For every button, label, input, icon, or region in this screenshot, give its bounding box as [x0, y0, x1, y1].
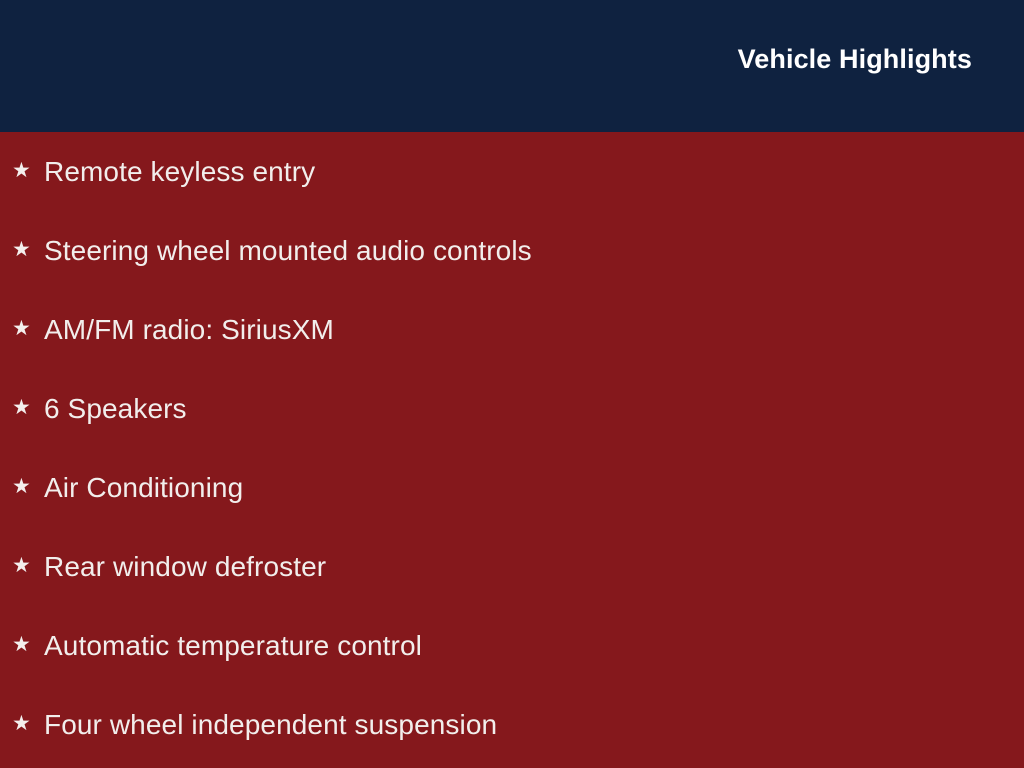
star-icon: ★ [12, 476, 44, 497]
star-icon: ★ [12, 634, 44, 655]
star-icon: ★ [12, 318, 44, 339]
list-item: ★ Remote keyless entry [0, 132, 1024, 211]
list-item-label: Automatic temperature control [44, 629, 422, 663]
vehicle-highlights-slide: Vehicle Highlights ★ Remote keyless entr… [0, 0, 1024, 768]
list-item-label: Rear window defroster [44, 550, 326, 584]
star-icon: ★ [12, 713, 44, 734]
page-title: Vehicle Highlights [738, 45, 972, 75]
list-item-label: Four wheel independent suspension [44, 708, 497, 742]
star-icon: ★ [12, 239, 44, 260]
list-item: ★ Air Conditioning [0, 448, 1024, 527]
star-icon: ★ [12, 555, 44, 576]
slide-body: ★ Remote keyless entry ★ Steering wheel … [0, 132, 1024, 768]
slide-header-band: Vehicle Highlights [0, 0, 1024, 132]
list-item: ★ Four wheel independent suspension [0, 685, 1024, 764]
list-item: ★ Automatic temperature control [0, 606, 1024, 685]
star-icon: ★ [12, 160, 44, 181]
list-item-label: AM/FM radio: SiriusXM [44, 313, 334, 347]
list-item: ★ Rear window defroster [0, 527, 1024, 606]
star-icon: ★ [12, 397, 44, 418]
list-item: ★ Steering wheel mounted audio controls [0, 211, 1024, 290]
list-item: ★ AM/FM radio: SiriusXM [0, 290, 1024, 369]
list-item: ★ 6 Speakers [0, 369, 1024, 448]
list-item-label: Remote keyless entry [44, 155, 315, 189]
list-item-label: 6 Speakers [44, 392, 187, 426]
list-item-label: Steering wheel mounted audio controls [44, 234, 532, 268]
vehicle-highlights-list: ★ Remote keyless entry ★ Steering wheel … [0, 132, 1024, 764]
list-item-label: Air Conditioning [44, 471, 243, 505]
